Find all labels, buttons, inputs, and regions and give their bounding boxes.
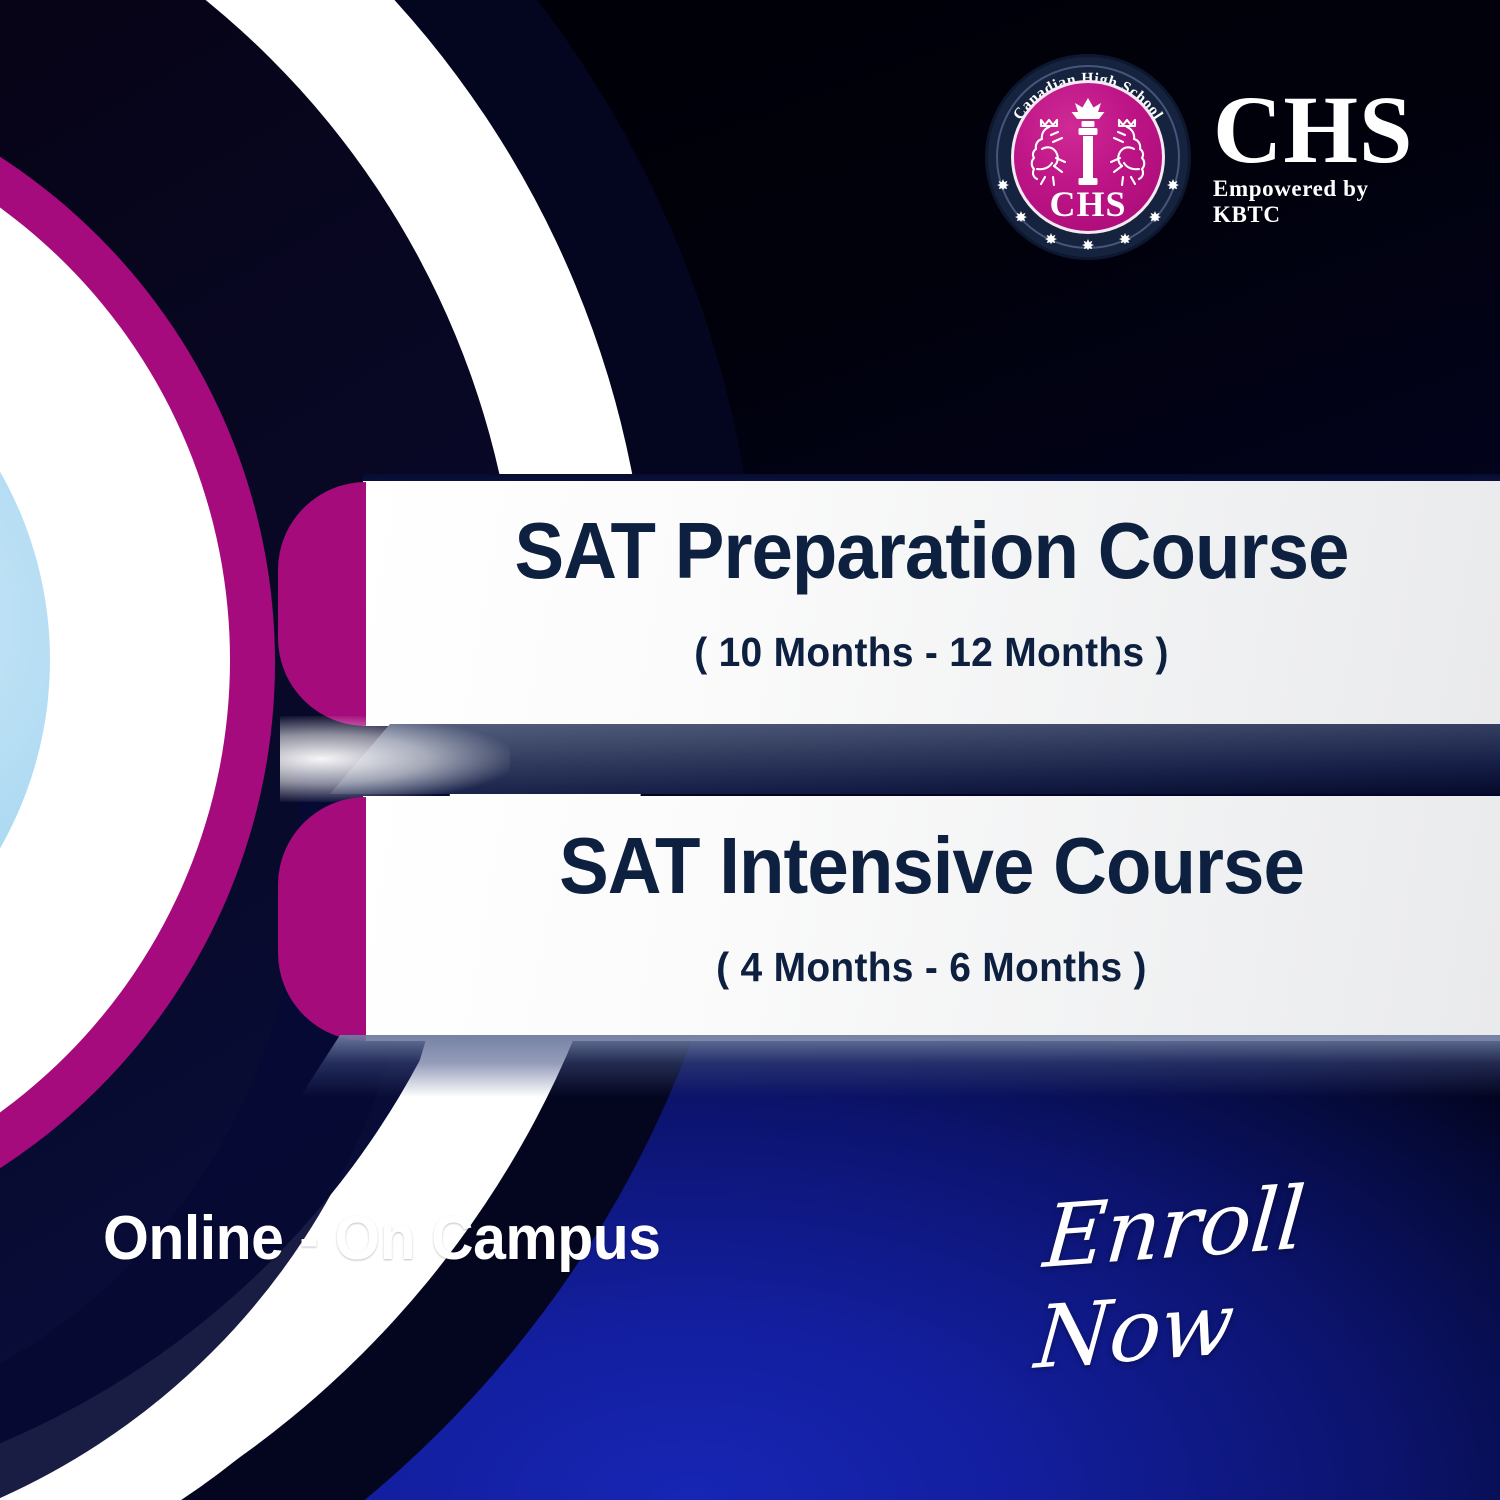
card-accent-tab: [278, 797, 366, 1041]
crest-monogram: CHS: [985, 186, 1191, 222]
brand-wordmark-group: CHS Empowered by KBTC: [1213, 86, 1435, 228]
crest-badge: Canadian High School: [985, 54, 1191, 260]
torch-icon: [1072, 98, 1105, 185]
card-intensive-shadow: [300, 1035, 1500, 1097]
course-card-intensive[interactable]: SAT Intensive Course ( 4 Months - 6 Mont…: [278, 796, 1500, 1041]
card-duration: ( 10 Months - 12 Months ): [391, 629, 1471, 676]
card-title: SAT Preparation Course: [403, 509, 1460, 593]
card-title: SAT Intensive Course: [403, 824, 1460, 908]
poster-canvas: Canadian High School: [0, 0, 1500, 1500]
course-card-preparation[interactable]: SAT Preparation Course ( 10 Months - 12 …: [278, 481, 1500, 726]
brand-wordmark: CHS: [1213, 86, 1435, 174]
brand-logo: Canadian High School: [985, 52, 1435, 262]
brand-tagline: Empowered by KBTC: [1213, 176, 1435, 228]
card-duration: ( 4 Months - 6 Months ): [391, 944, 1471, 991]
divider-band-glow: [280, 716, 510, 802]
card-accent-tab: [278, 482, 366, 726]
enroll-now-cta[interactable]: Enroll Now: [1032, 1153, 1500, 1388]
delivery-modes-label: Online - On Campus: [103, 1203, 661, 1274]
lion-rampant-left-icon: [1032, 120, 1065, 185]
lion-rampant-right-icon: [1111, 120, 1144, 185]
